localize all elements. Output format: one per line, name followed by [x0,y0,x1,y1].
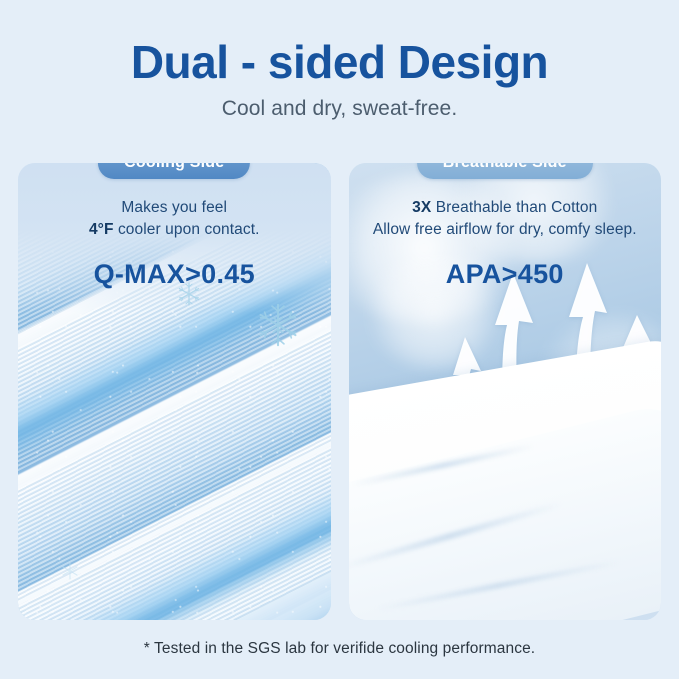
cooling-copy: Makes you feel 4°F cooler upon contact. … [18,197,331,290]
snowflake-icon [60,561,80,586]
feature-panels: Cooling Side Makes you feel 4°F cooler u… [18,163,661,620]
cooling-line-2-rest: cooler upon contact. [114,221,260,238]
header: Dual - sided Design Cool and dry, sweat-… [0,0,679,121]
cooling-line-2: 4°F cooler upon contact. [28,219,321,241]
page-title: Dual - sided Design [0,38,679,88]
footnote: * Tested in the SGS lab for verifide coo… [0,640,679,658]
breathable-line-1-rest: Breathable than Cotton [431,199,597,216]
breathable-line-2: Allow free airflow for dry, comfy sleep. [359,219,652,241]
snowflake-icon [255,302,301,353]
page-subtitle: Cool and dry, sweat-free. [0,97,679,121]
breathable-multiplier: 3X [412,199,431,216]
cooling-metric: Q-MAX>0.45 [28,259,321,290]
panel-cooling-side: Cooling Side Makes you feel 4°F cooler u… [18,163,331,620]
breathable-copy: 3X Breathable than Cotton Allow free air… [349,197,662,290]
breathable-line-1: 3X Breathable than Cotton [359,197,652,219]
badge-breathable-side: Breathable Side [417,163,593,179]
badge-cooling-side: Cooling Side [98,163,250,179]
cooling-line-1: Makes you feel [28,197,321,219]
panel-breathable-side: Breathable Side 3X Breathable than Cotto… [349,163,662,620]
breathable-metric: APA>450 [359,259,652,290]
cooling-temp-value: 4°F [89,221,114,238]
